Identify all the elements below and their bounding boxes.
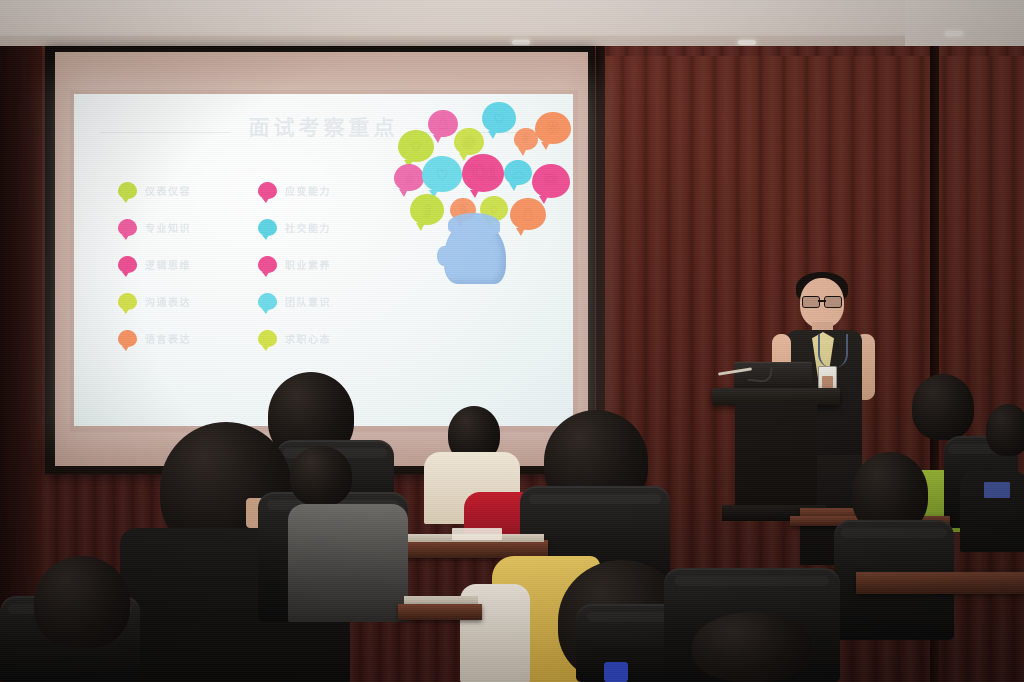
bubble-glyph: ♥ [412,139,421,154]
bullet-row: ●逻辑思维 [118,246,240,283]
phone-on-desk [604,662,628,682]
bubble-glyph: ♫ [404,171,414,184]
bullet-label: 求职心态 [285,331,331,346]
glasses-icon [802,296,842,306]
bubble-glyph: ♦ [491,203,497,215]
podium-body [735,403,817,519]
bubble-glyph: ♥ [437,166,447,183]
bullet-row: ♫职业素养 [258,246,380,283]
audience-head-r3-2 [290,446,352,506]
desk-left-lower [398,604,482,620]
dollar-icon: $ [118,330,137,347]
bubble-glyph: $ [523,134,529,144]
badge-blue-1 [984,482,1010,498]
bullet-row: ▬社交能力 [258,209,380,246]
lightbulb-icon: Ὂ1 [462,154,504,192]
music-icon: ♫ [394,164,424,191]
bullet-row: ♀应变能力 [258,172,380,209]
bullet-column-right: ♀应变能力▬社交能力♫职业素养☁团队意识●求职心态 [258,172,380,357]
cloud-icon: ☁ [504,160,532,185]
trophy-icon: ♀ [258,182,277,199]
bullet-label: 专业知识 [145,220,191,235]
laptop-icon [734,362,812,390]
chat-icon: ▬ [258,219,277,236]
bullet-row: $语言表达 [118,320,240,357]
downlight-3 [945,31,963,36]
bubble-glyph: ♟ [437,117,449,130]
bullet-label: 沟通表达 [145,294,191,309]
bullet-label: 仪表仪容 [145,183,191,198]
bubble-glyph: ♟ [521,207,534,222]
lightbulb-icon: ● [118,256,137,273]
envelope-icon: ✉ [532,164,570,198]
handshake-icon: ✔ [118,293,137,310]
bubble-glyph: ♻ [546,121,559,136]
bullet-label: 应变能力 [285,183,331,198]
people-icon: ♟ [510,198,546,230]
heart-alt-icon: ♥ [482,102,516,133]
bullet-label: 逻辑思维 [145,257,191,272]
music-icon: ♫ [258,256,277,273]
audience-head-r4-3 [34,556,130,648]
bubble-glyph: @ [462,135,475,148]
bullet-row: ●求职心态 [258,320,380,357]
bullet-label: 职业素养 [285,257,331,272]
bullet-row: ✔沟通表达 [118,283,240,320]
audience-head-r4-2 [692,612,812,682]
heart-big-icon: ♥ [422,156,462,192]
lanyard [818,334,848,368]
bullet-label: 语言表达 [145,331,191,346]
bubble-glyph: ✉ [544,173,557,189]
downlight-2 [738,40,756,45]
head-silhouette-icon [444,220,506,284]
bubble-glyph: ♥ [495,111,503,125]
heart-icon: ♥ [398,130,434,162]
desk-right-lower [856,572,1024,594]
trophy-icon: ♟ [428,110,458,137]
cloud-icon: ☁ [258,293,277,310]
lecture-hall-photo: 面试考察重点 ♥仪表仪容✉专业知识●逻辑思维✔沟通表达$语言表达 ♀应变能力▬社… [0,0,1024,682]
bullet-row: ☁团队意识 [258,283,380,320]
heart-icon: ♥ [118,182,137,199]
downlight-1 [512,40,530,45]
audience-body-r3-2 [288,504,408,622]
smiley-icon: ● [258,330,277,347]
audience-head-far-2 [986,404,1024,456]
paper-sheet-1 [452,528,502,540]
bullet-label: 团队意识 [285,294,331,309]
bullet-row: ✉专业知识 [118,209,240,246]
bullet-column-left: ♥仪表仪容✉专业知识●逻辑思维✔沟通表达$语言表达 [118,172,240,357]
bullet-row: ♥仪表仪容 [118,172,240,209]
bubble-glyph: ☁ [512,167,524,179]
envelope-icon: ✉ [118,219,137,236]
bubble-glyph: Ὂ1 [469,164,497,182]
recycle-icon: ♻ [535,112,571,144]
title-rule-left [100,132,230,133]
key-icon: ⚷ [410,194,444,225]
thought-bubble-cluster: ♥♟@♥$♻♫♥Ὂ1☁✉⚷$♦♟ [392,102,572,282]
at-icon: @ [454,128,484,155]
bubble-glyph: ⚷ [422,203,432,217]
bullet-label: 社交能力 [285,220,331,235]
audience-head-far-1 [912,374,974,440]
